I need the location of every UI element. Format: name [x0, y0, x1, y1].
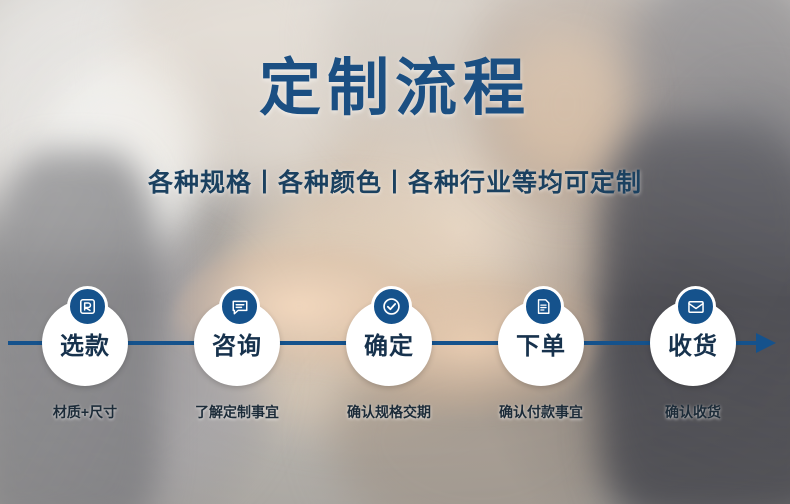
page-subtitle: 各种规格丨各种颜色丨各种行业等均可定制: [0, 163, 790, 199]
flow-step-1[interactable]: 选款 材质+尺寸: [15, 300, 155, 386]
flow-step-2[interactable]: 咨询 了解定制事宜: [167, 300, 307, 386]
selection-tag-icon: [67, 286, 108, 327]
flow-step-4[interactable]: 下单 确认付款事宜: [471, 300, 611, 386]
order-document-icon: [523, 286, 564, 327]
check-circle-icon: [371, 286, 412, 327]
flow-step-5[interactable]: 收货 确认收货: [623, 300, 763, 386]
custom-process-banner: 定制流程 各种规格丨各种颜色丨各种行业等均可定制 选款 材质+尺寸 咨询 了解定…: [0, 0, 790, 504]
chat-bubble-icon: [219, 286, 260, 327]
flow-step-caption: 确认收货: [603, 402, 783, 422]
page-title: 定制流程: [0, 58, 790, 120]
delivery-box-icon: [675, 286, 716, 327]
flow-step-3[interactable]: 确定 确认规格交期: [319, 300, 459, 386]
